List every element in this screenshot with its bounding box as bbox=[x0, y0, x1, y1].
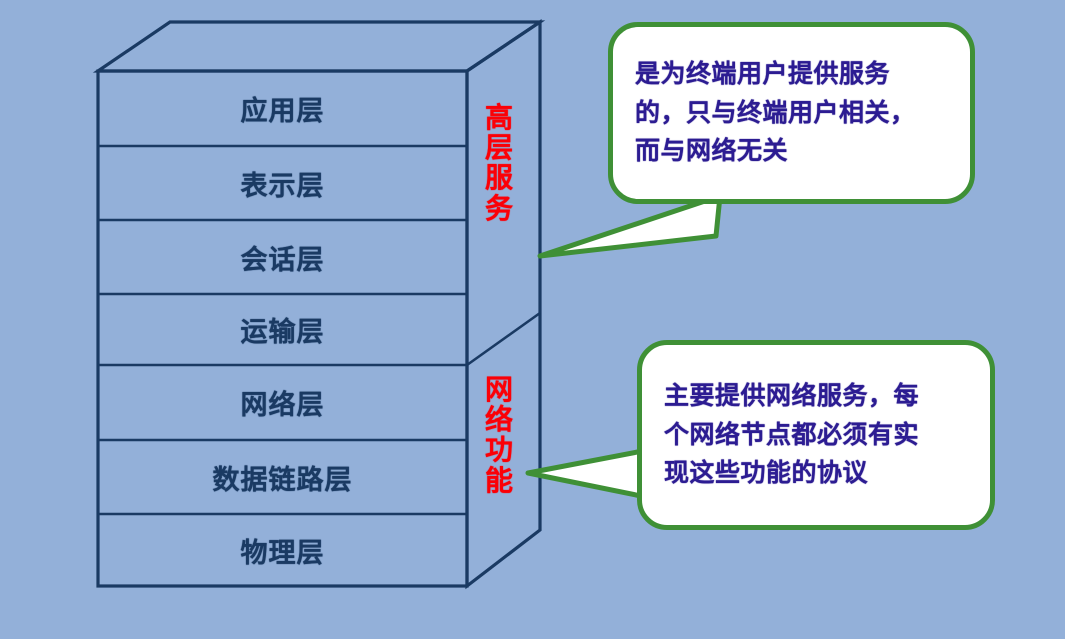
group-char: 层 bbox=[476, 133, 522, 163]
group-label-upper-services: 高 层 服 务 bbox=[476, 103, 522, 224]
group-char: 网 bbox=[476, 375, 522, 405]
callout-line: 现这些功能的协议 bbox=[664, 454, 968, 493]
group-char: 功 bbox=[476, 435, 522, 465]
callout-line: 是为终端用户提供服务 bbox=[635, 55, 948, 94]
group-label-network-functions: 网 络 功 能 bbox=[476, 375, 522, 496]
upper-callout-tail bbox=[540, 196, 720, 256]
group-char: 络 bbox=[476, 405, 522, 435]
group-char: 能 bbox=[476, 466, 522, 496]
cube-front-face bbox=[98, 71, 467, 586]
callout-network-functions: 主要提供网络服务，每 个网络节点都必须有实 现这些功能的协议 bbox=[637, 340, 995, 530]
group-char: 高 bbox=[476, 103, 522, 133]
diagram-canvas: 应用层 表示层 会话层 运输层 网络层 数据链路层 物理层 高 层 服 务 网 … bbox=[0, 0, 1065, 639]
cube-top-face bbox=[98, 22, 540, 71]
callout-upper-services: 是为终端用户提供服务 的，只与终端用户相关， 而与网络无关 bbox=[608, 22, 975, 204]
callout-line: 而与网络无关 bbox=[635, 132, 948, 171]
group-char: 服 bbox=[476, 163, 522, 193]
group-divider bbox=[467, 313, 540, 365]
callout-line: 主要提供网络服务，每 bbox=[664, 377, 968, 416]
callout-line: 个网络节点都必须有实 bbox=[664, 416, 968, 455]
group-char: 务 bbox=[476, 194, 522, 224]
callout-line: 的，只与终端用户相关， bbox=[635, 94, 948, 133]
